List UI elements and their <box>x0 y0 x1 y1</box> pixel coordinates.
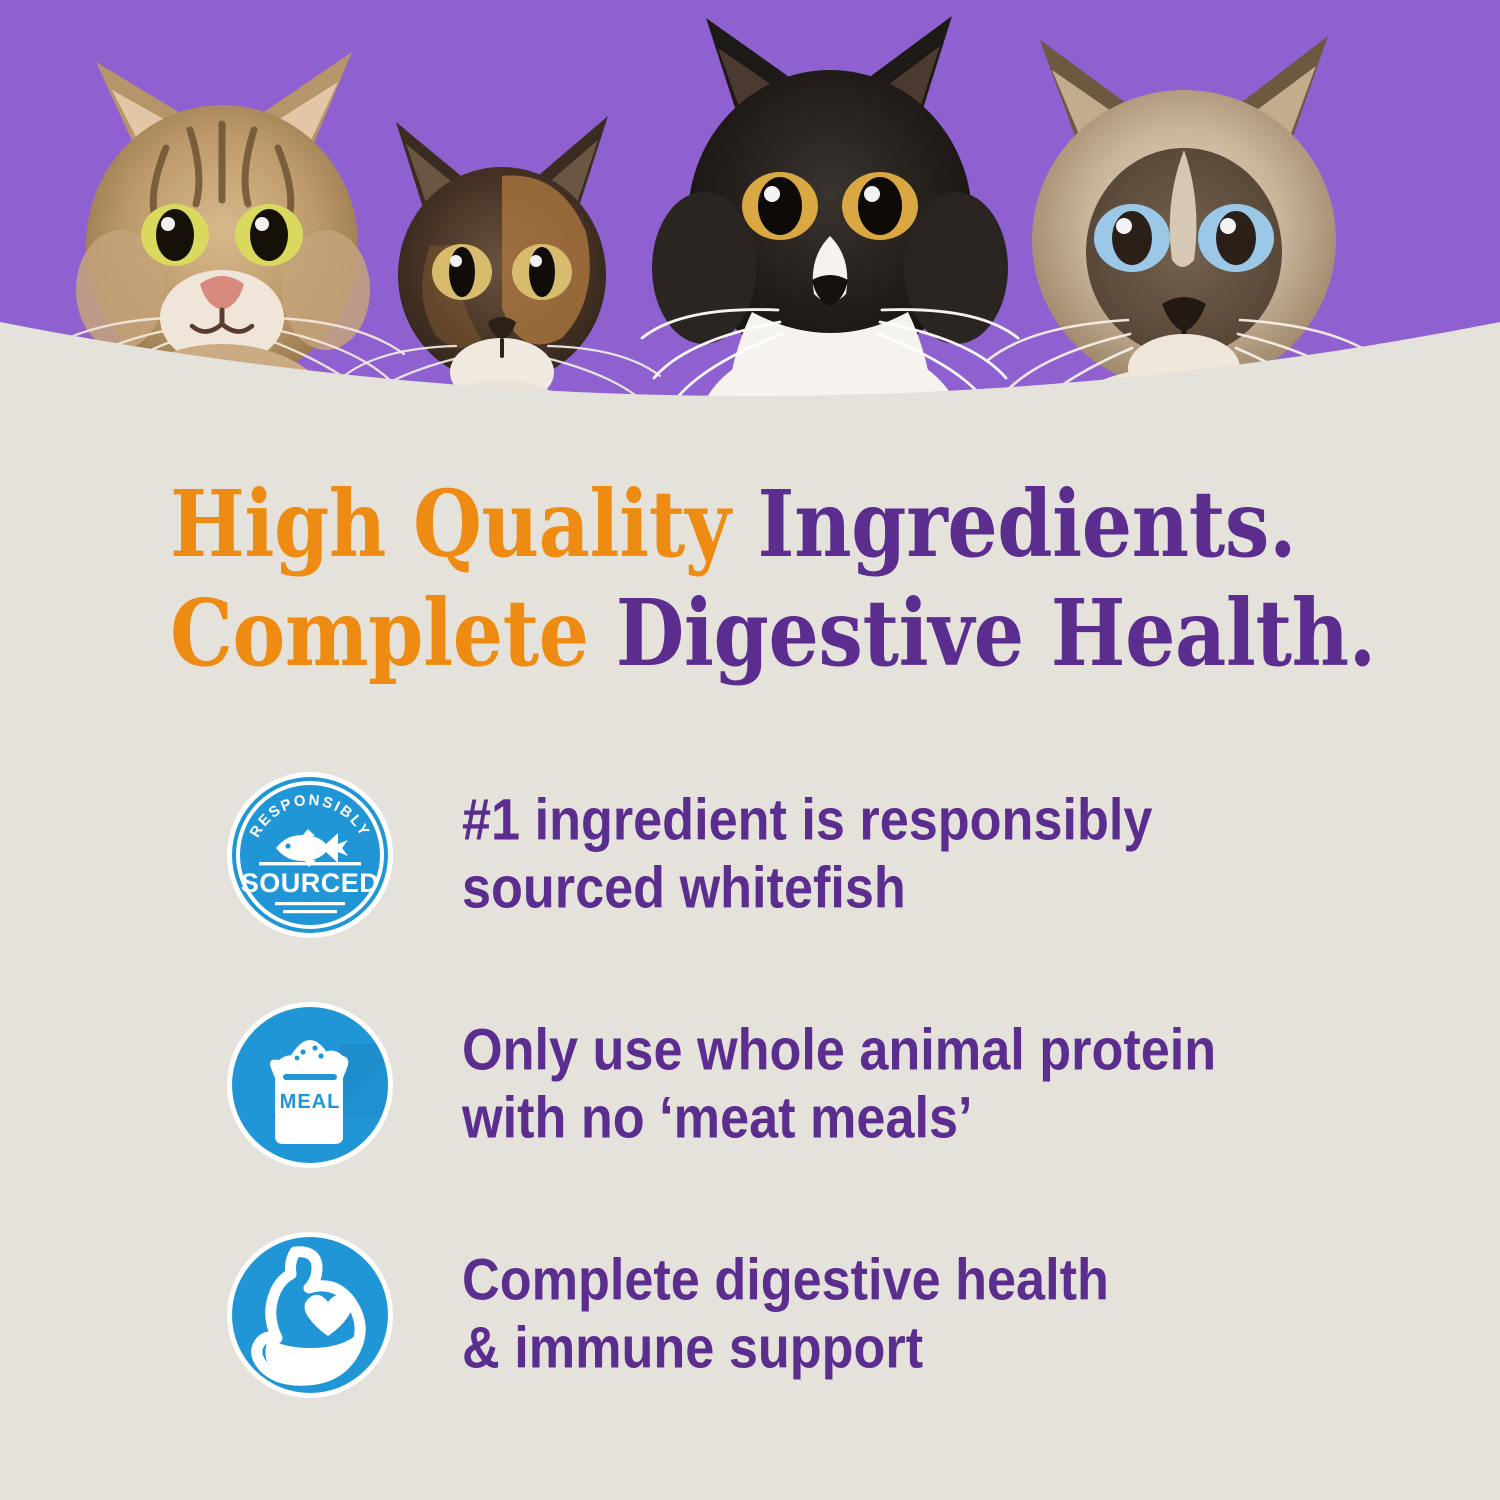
headline-line1-purple: Ingredients. <box>758 470 1297 578</box>
headline-line-2: Complete Digestive Health. <box>170 579 1245 688</box>
badge-main-text: SOURCED <box>241 868 380 898</box>
feature-bullet-list: RESPONSIBLY SOURCED #1 ingredient is re <box>0 740 1500 1430</box>
headline-line-1: High Quality Ingredients. <box>170 470 1245 579</box>
headline-line2-purple: Digestive Health. <box>616 579 1376 687</box>
meal-bag-icon: MEAL <box>225 1000 395 1170</box>
feature-bullet-item: Complete digestive health & immune suppo… <box>0 1200 1500 1430</box>
headline-line1-orange: High Quality <box>170 470 758 578</box>
feature-bullet-text: Only use whole animal protein with no ‘m… <box>462 1017 1362 1154</box>
stomach-heart-icon <box>225 1230 395 1400</box>
headline-line2-orange: Complete <box>170 579 616 687</box>
headline: High Quality Ingredients. Complete Diges… <box>170 470 1245 687</box>
responsibly-sourced-badge-icon: RESPONSIBLY SOURCED <box>225 770 395 940</box>
product-feature-graphic: High Quality Ingredients. Complete Diges… <box>0 0 1500 1500</box>
hero-banner <box>0 0 1500 470</box>
feature-bullet-text: #1 ingredient is responsibly sourced whi… <box>462 787 1362 924</box>
feature-bullet-item: MEAL Only use whole animal protein with … <box>0 970 1500 1200</box>
meal-bag-label: MEAL <box>280 1091 341 1113</box>
feature-bullet-item: RESPONSIBLY SOURCED #1 ingredient is re <box>0 740 1500 970</box>
hero-cats-illustration <box>0 0 1500 470</box>
feature-bullet-text: Complete digestive health & immune suppo… <box>462 1247 1362 1384</box>
